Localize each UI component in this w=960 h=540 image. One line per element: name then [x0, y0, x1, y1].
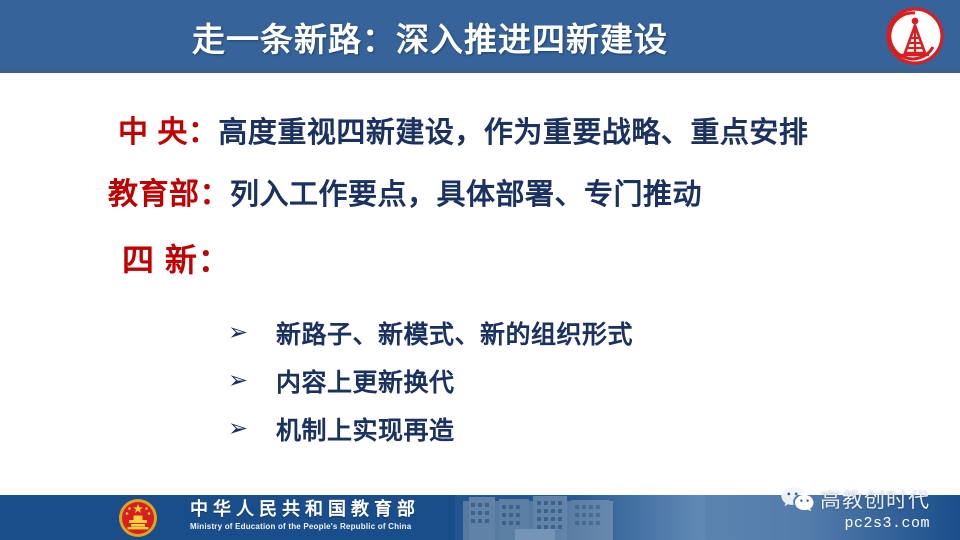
list-item: ➢ 机制上实现再造 — [228, 405, 888, 453]
section-heading-sixin: 四 新： — [122, 235, 231, 281]
arrow-bullet-icon: ➢ — [228, 369, 276, 393]
list-item-label: 机制上实现再造 — [276, 411, 455, 447]
slide-body: 中 央： 高度重视四新建设，作为重要战略、重点安排 教育部： 列入工作要点，具体… — [0, 73, 960, 495]
statement-row-central: 中 央： 高度重视四新建设，作为重要战略、重点安排 — [118, 107, 808, 151]
watermark: 高教创时代 pc2s3.com — [736, 484, 946, 536]
footer-organization: 中华人民共和国教育部 Ministry of Education of the … — [190, 499, 450, 532]
university-emblem-icon — [884, 5, 946, 67]
statement-label: 中 央： — [118, 107, 218, 151]
national-emblem-icon — [118, 498, 158, 538]
statement-text: 高度重视四新建设，作为重要战略、重点安排 — [218, 109, 808, 151]
bullet-list: ➢ 新路子、新模式、新的组织形式 ➢ 内容上更新换代 ➢ 机制上实现再造 — [228, 309, 888, 453]
list-item-label: 内容上更新换代 — [276, 363, 455, 399]
arrow-bullet-icon: ➢ — [228, 417, 276, 441]
wechat-icon — [780, 485, 814, 513]
statement-text: 列入工作要点，具体部署、专门推动 — [230, 171, 702, 213]
footer-organization-cn: 中华人民共和国教育部 — [190, 499, 450, 519]
list-item: ➢ 内容上更新换代 — [228, 357, 888, 405]
page-title: 走一条新路：深入推进四新建设 — [0, 0, 860, 73]
watermark-domain: pc2s3.com — [844, 515, 930, 532]
slide-canvas: 走一条新路：深入推进四新建设 中 央： 高度重视四新建设，作为重要战略、重点安排… — [0, 0, 960, 540]
arrow-bullet-icon: ➢ — [228, 321, 276, 345]
statement-label: 教育部： — [108, 169, 230, 213]
statement-row-ministry: 教育部： 列入工作要点，具体部署、专门推动 — [108, 169, 702, 213]
watermark-brand-row: 高教创时代 — [780, 484, 930, 514]
watermark-label: 高教创时代 — [820, 484, 930, 514]
footer-organization-en: Ministry of Education of the People's Re… — [190, 521, 450, 532]
list-item: ➢ 新路子、新模式、新的组织形式 — [228, 309, 888, 357]
list-item-label: 新路子、新模式、新的组织形式 — [276, 315, 633, 351]
